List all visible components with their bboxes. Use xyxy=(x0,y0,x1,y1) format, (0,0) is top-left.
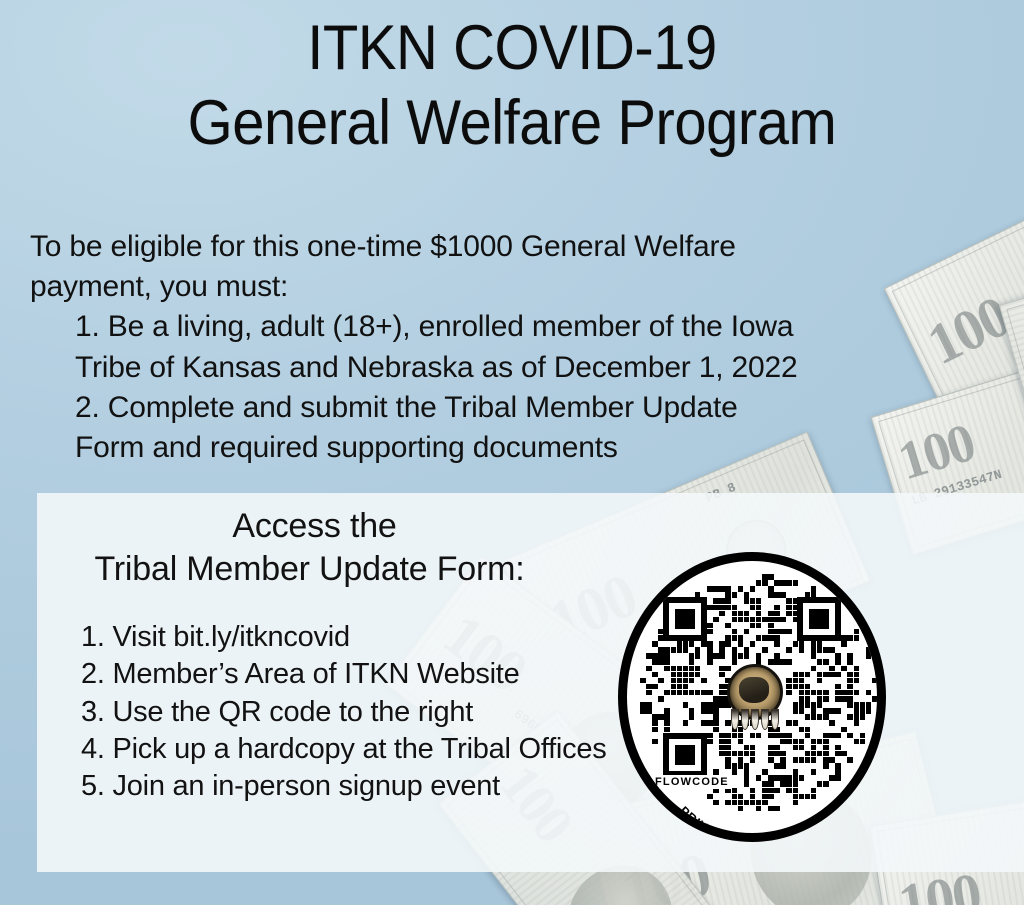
access-heading-line-2: Tribal Member Update Form: xyxy=(37,548,582,591)
qr-finder-top-right xyxy=(797,597,841,641)
feather-icon xyxy=(731,709,739,730)
eligibility-item-2-line-2: Form and required supporting documents xyxy=(30,428,910,468)
poster-canvas: 100 PB 8 100 LB 29133547N 100 100 PB 8 1… xyxy=(0,0,1024,905)
bill-denomination: 100 xyxy=(917,282,1019,378)
page-title-line-2: General Welfare Program xyxy=(41,91,983,157)
eligibility-intro-line-1: To be eligible for this one-time $1000 G… xyxy=(30,227,910,267)
eligibility-section: To be eligible for this one-time $1000 G… xyxy=(30,227,910,468)
access-heading-line-1: Access the xyxy=(37,505,582,548)
qr-circle-frame[interactable]: FLOWCODE PRIVACY.FLOWCODE.COM xyxy=(618,552,886,842)
page-title-line-1: ITKN COVID-19 xyxy=(41,16,983,82)
eligibility-item-1-line-2: Tribe of Kansas and Nebraska as of Decem… xyxy=(30,348,910,388)
qr-finder-top-left xyxy=(663,597,707,641)
eligibility-intro-line-2: payment, you must: xyxy=(30,267,910,307)
eligibility-item-1-line-1: 1. Be a living, adult (18+), enrolled me… xyxy=(30,307,910,347)
access-heading: Access the Tribal Member Update Form: xyxy=(37,505,582,591)
flowcode-privacy-arc: PRIVACY.FLOWCODE.COM xyxy=(627,761,886,831)
access-steps-list: 1. Visit bit.ly/itkncovid 2. Member’s Ar… xyxy=(81,619,681,805)
list-item: 2. Member’s Area of ITKN Website xyxy=(81,656,681,693)
list-item: 5. Join an in-person signup event xyxy=(81,768,681,805)
iowa-tribe-seal-icon xyxy=(723,664,781,730)
list-item: 1. Visit bit.ly/itkncovid xyxy=(81,619,681,656)
list-item: 3. Use the QR code to the right xyxy=(81,694,681,731)
list-item: 4. Pick up a hardcopy at the Tribal Offi… xyxy=(81,731,681,768)
flowcode-qr-code[interactable]: FLOWCODE PRIVACY.FLOWCODE.COM xyxy=(618,552,886,842)
feather-icon xyxy=(741,709,749,730)
feather-icon xyxy=(771,709,779,730)
feather-icon xyxy=(761,709,769,730)
feather-icon xyxy=(751,709,759,730)
page-title: ITKN COVID-19 General Welfare Program xyxy=(0,16,1024,156)
flowcode-privacy-label: PRIVACY.FLOWCODE.COM xyxy=(677,804,846,831)
eligibility-item-2-line-1: 2. Complete and submit the Tribal Member… xyxy=(30,388,910,428)
